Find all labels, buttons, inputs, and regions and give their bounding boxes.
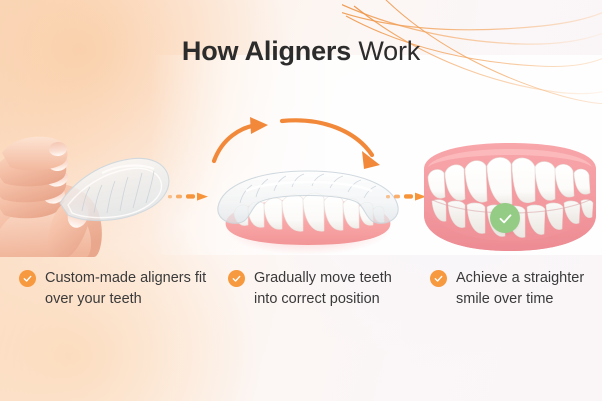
step-3-dentition-image: [418, 103, 602, 258]
title-bold: How Aligners: [182, 36, 351, 66]
orange-check-icon-1: [19, 270, 36, 287]
bullet-item-2: Gradually move teeth into correct positi…: [228, 268, 408, 310]
bullet-text-3: Achieve a straighter smile over time: [456, 268, 598, 310]
bullet-item-3: Achieve a straighter smile over time: [430, 268, 598, 310]
title-light: Work: [351, 36, 420, 66]
step-2-arch-aligner-image: [196, 103, 418, 258]
orange-check-icon-3: [430, 270, 447, 287]
success-badge: [490, 203, 520, 233]
check-glyph: [231, 273, 242, 284]
bullet-text-2: Gradually move teeth into correct positi…: [254, 268, 408, 310]
illustration-stage: [0, 85, 602, 260]
check-glyph: [22, 273, 33, 284]
green-check-icon: [497, 210, 514, 227]
bullet-text-1: Custom-made aligners fit over your teeth: [45, 268, 211, 310]
step-1-hand-aligner-image: [0, 107, 180, 257]
bullet-list: Custom-made aligners fit over your teeth…: [0, 268, 602, 378]
infographic-canvas: How Aligners Work: [0, 0, 602, 401]
page-title: How Aligners Work: [0, 36, 602, 67]
bullet-item-1: Custom-made aligners fit over your teeth: [19, 268, 211, 310]
check-glyph: [433, 273, 444, 284]
orange-check-icon-2: [228, 270, 245, 287]
